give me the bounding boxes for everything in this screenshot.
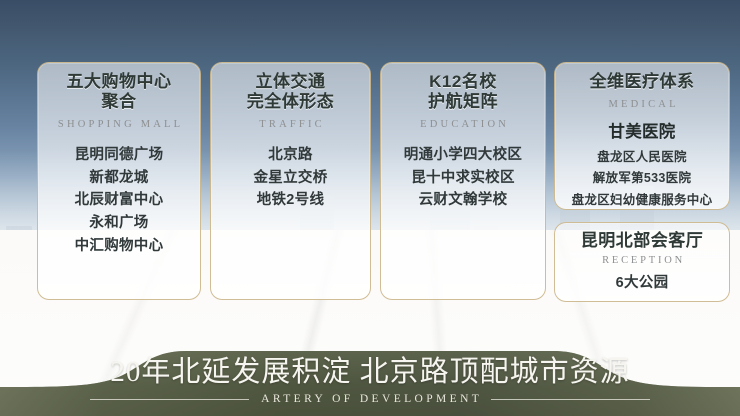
list-item: 地铁2号线 <box>211 189 370 212</box>
banner-content: 20年北延发展积淀 北京路顶配城市资源 ARTERY OF DEVELOPMEN… <box>0 338 740 416</box>
card-subtitle: SHOPPING MALL <box>38 119 200 130</box>
list-item: 北辰财富中心 <box>38 189 200 212</box>
list-item: 北京路 <box>211 144 370 167</box>
bottom-banner: 20年北延发展积淀 北京路顶配城市资源 ARTERY OF DEVELOPMEN… <box>0 338 740 416</box>
card-item-list: 6大公园 <box>555 272 729 295</box>
card-medical: 全维医疗体系 MEDICAL 甘美医院 盘龙区人民医院 解放军第533医院 盘龙… <box>554 62 730 210</box>
list-item: 昆十中求实校区 <box>381 167 545 190</box>
card-subtitle: EDUCATION <box>381 119 545 130</box>
card-traffic: 立体交通 完全体形态 TRAFFIC 北京路 金星立交桥 地铁2号线 <box>210 62 371 300</box>
card-item-list: 昆明同德广场 新都龙城 北辰财富中心 永和广场 中汇购物中心 <box>38 144 200 257</box>
card-education: K12名校 护航矩阵 EDUCATION 明通小学四大校区 昆十中求实校区 云财… <box>380 62 546 300</box>
list-item: 6大公园 <box>555 272 729 295</box>
card-title: 五大购物中心 聚合 <box>38 72 200 112</box>
banner-subtitle: ARTERY OF DEVELOPMENT <box>258 393 482 405</box>
banner-rule-left <box>90 399 249 400</box>
list-item: 解放军第533医院 <box>555 168 729 190</box>
list-item: 明通小学四大校区 <box>381 144 545 167</box>
card-reception: 昆明北部会客厅 RECEPTION 6大公园 <box>554 222 730 302</box>
card-subtitle: TRAFFIC <box>211 119 370 130</box>
list-item: 云财文翰学校 <box>381 189 545 212</box>
list-item: 昆明同德广场 <box>38 144 200 167</box>
banner-subtitle-row: ARTERY OF DEVELOPMENT <box>90 393 650 405</box>
list-item: 盘龙区人民医院 <box>555 147 729 169</box>
list-item: 金星立交桥 <box>211 167 370 190</box>
card-title: 立体交通 完全体形态 <box>211 72 370 112</box>
banner-rule-right <box>491 399 650 400</box>
list-item: 中汇购物中心 <box>38 235 200 258</box>
card-item-list: 明通小学四大校区 昆十中求实校区 云财文翰学校 <box>381 144 545 212</box>
list-item: 永和广场 <box>38 212 200 235</box>
banner-title: 20年北延发展积淀 北京路顶配城市资源 <box>110 357 629 387</box>
list-item: 盘龙区妇幼健康服务中心 <box>555 190 729 212</box>
card-shopping-mall: 五大购物中心 聚合 SHOPPING MALL 昆明同德广场 新都龙城 北辰财富… <box>37 62 201 300</box>
card-subtitle: MEDICAL <box>555 99 729 110</box>
card-item-list: 北京路 金星立交桥 地铁2号线 <box>211 144 370 212</box>
list-item: 新都龙城 <box>38 167 200 190</box>
card-subtitle: RECEPTION <box>555 255 729 266</box>
card-title: 昆明北部会客厅 <box>555 231 729 251</box>
poster-canvas: 五大购物中心 聚合 SHOPPING MALL 昆明同德广场 新都龙城 北辰财富… <box>0 0 740 416</box>
list-item-lead: 甘美医院 <box>555 120 729 146</box>
card-title: K12名校 护航矩阵 <box>381 72 545 112</box>
card-title: 全维医疗体系 <box>555 72 729 92</box>
card-item-list: 甘美医院 盘龙区人民医院 解放军第533医院 盘龙区妇幼健康服务中心 <box>555 120 729 211</box>
